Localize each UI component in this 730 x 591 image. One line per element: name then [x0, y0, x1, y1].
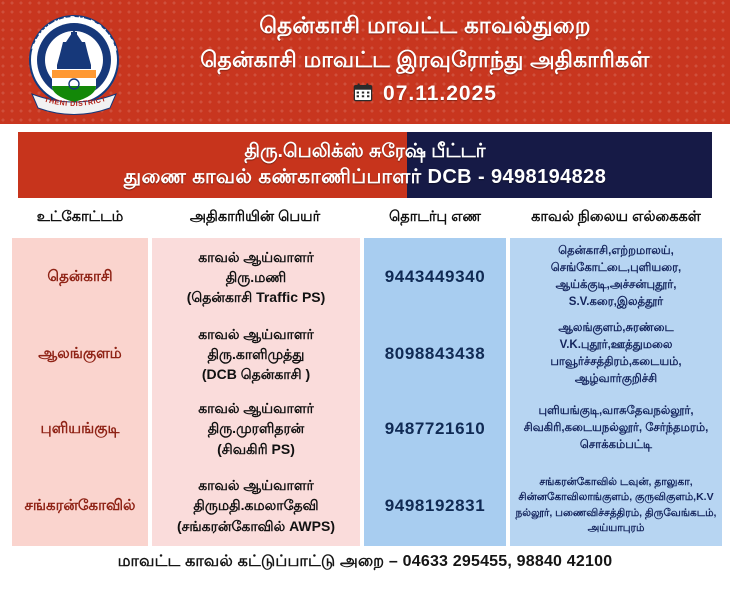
table-row: 9487721610	[364, 392, 506, 465]
table-row: தென்காசி,எற்றமாலய், செங்கோட்டை,புளியரை, …	[510, 238, 722, 316]
column-header-subdivision: உட்கோட்டம்	[12, 209, 148, 227]
table-row: ஆலங்குளம்	[12, 316, 148, 392]
report-date: 07.11.2025	[383, 82, 497, 106]
column-header-station-limits: காவல் நிலைய எல்கைகள்	[510, 209, 722, 227]
organization-title: தென்காசி மாவட்ட காவல்துறை	[130, 8, 720, 43]
banner-text-block: திரு.பெலிக்ஸ் சுரேஷ் பீட்டர் துணை காவல் …	[18, 132, 712, 198]
patrol-officers-table: உட்கோட்டம் அதிகாரியின் பெயர் தொடர்பு எண …	[0, 205, 730, 546]
tamilnadu-police-emblem-icon: TAMILNADU POLICE THENI DISTRICT	[22, 8, 126, 116]
contact-number[interactable]: 8098843438	[385, 344, 486, 364]
table-row: காவல் ஆய்வாளர் திருமதி.கமலாதேவி (சங்கரன்…	[152, 465, 360, 546]
table-row: காவல் ஆய்வாளர் திரு.காளிமுத்து (DCB தென்…	[152, 316, 360, 392]
officer-rank: காவல் ஆய்வாளர்	[198, 324, 314, 344]
officer-name: திரு.மணி	[226, 267, 286, 287]
table-header-row: உட்கோட்டம் அதிகாரியின் பெயர் தொடர்பு எண …	[0, 205, 730, 238]
station-limits: தென்காசி,எற்றமாலய், செங்கோட்டை,புளியரை, …	[514, 243, 718, 312]
masthead: TAMILNADU POLICE THENI DISTRICT தென்காசி…	[0, 0, 730, 124]
table-row: புளியங்குடி,வாசுதேவநல்லூர், சிவகிரி,கடைய…	[510, 392, 722, 465]
table-body: தென்காசி ஆலங்குளம் புளியங்குடி சங்கரன்கோ…	[0, 238, 730, 546]
subdivision-name: சங்கரன்கோவில்	[25, 496, 136, 516]
station-limits: புளியங்குடி,வாசுதேவநல்லூர், சிவகிரி,கடைய…	[514, 403, 718, 455]
officer-name: திரு.காளிமுத்து	[208, 344, 305, 364]
page-subtitle: தென்காசி மாவட்ட இரவுரோந்து அதிகாரிகள்	[130, 43, 720, 76]
date-row: 07.11.2025	[130, 82, 720, 107]
subdivision-name: ஆலங்குளம்	[38, 344, 121, 364]
table-row: 9443449340	[364, 238, 506, 316]
calendar-icon	[353, 82, 373, 107]
subdivision-name: புளியங்குடி	[41, 419, 120, 439]
officer-rank: காவல் ஆய்வாளர்	[198, 475, 314, 495]
table-row: 8098843438	[364, 316, 506, 392]
table-row: ஆலங்குளம்,சுரண்டை V.K.புதூர்,ஊத்துமலை பா…	[510, 316, 722, 392]
column-header-officer-name: அதிகாரியின் பெயர்	[150, 209, 360, 227]
table-row: சங்கரன்கோவில் டவுன், தாலுகா, சின்னகோவிலா…	[510, 465, 722, 546]
station-limits: ஆலங்குளம்,சுரண்டை V.K.புதூர்,ஊத்துமலை பா…	[514, 320, 718, 389]
subdivision-name: தென்காசி	[47, 267, 112, 287]
officer-rank: காவல் ஆய்வாளர்	[198, 247, 314, 267]
table-row: காவல் ஆய்வாளர் திரு.மணி (தென்காசி Traffi…	[152, 238, 360, 316]
officer-station: (சங்கரன்கோவில் AWPS)	[177, 516, 335, 536]
contact-number[interactable]: 9498192831	[385, 496, 486, 516]
contact-number[interactable]: 9443449340	[385, 267, 486, 287]
control-room-footer: மாவட்ட காவல் கட்டுப்பாட்டு அறை – 04633 2…	[0, 552, 730, 572]
table-row: 9498192831	[364, 465, 506, 546]
station-limits: சங்கரன்கோவில் டவுன், தாலுகா, சின்னகோவிலா…	[514, 475, 718, 536]
table-row: தென்காசி	[12, 238, 148, 316]
officer-station: (DCB தென்காசி )	[202, 364, 310, 384]
masthead-text-block: தென்காசி மாவட்ட காவல்துறை தென்காசி மாவட்…	[130, 8, 720, 107]
lead-officer-rank: துணை காவல் கண்காணிப்பாளர் DCB - 94981948…	[124, 164, 606, 191]
lead-officer-name: திரு.பெலிக்ஸ் சுரேஷ் பீட்டர்	[244, 139, 485, 165]
column-contact-number: 9443449340 8098843438 9487721610 9498192…	[364, 238, 506, 546]
officer-rank: காவல் ஆய்வாளர்	[198, 398, 314, 418]
officer-name: திரு.முரளிதரன்	[208, 418, 305, 438]
contact-number[interactable]: 9487721610	[385, 419, 486, 439]
column-header-contact-number: தொடர்பு எண	[364, 209, 506, 227]
column-subdivision: தென்காசி ஆலங்குளம் புளியங்குடி சங்கரன்கோ…	[12, 238, 148, 546]
officer-station: (சிவகிரி PS)	[217, 439, 295, 459]
column-station-limits: தென்காசி,எற்றமாலய், செங்கோட்டை,புளியரை, …	[510, 238, 722, 546]
officer-station: (தென்காசி Traffic PS)	[187, 287, 326, 307]
table-row: புளியங்குடி	[12, 392, 148, 465]
officer-banner: திரு.பெலிக்ஸ் சுரேஷ் பீட்டர் துணை காவல் …	[18, 132, 712, 198]
officer-name: திருமதி.கமலாதேவி	[193, 495, 318, 515]
table-row: காவல் ஆய்வாளர் திரு.முரளிதரன் (சிவகிரி P…	[152, 392, 360, 465]
table-row: சங்கரன்கோவில்	[12, 465, 148, 546]
column-officer-name: காவல் ஆய்வாளர் திரு.மணி (தென்காசி Traffi…	[152, 238, 360, 546]
